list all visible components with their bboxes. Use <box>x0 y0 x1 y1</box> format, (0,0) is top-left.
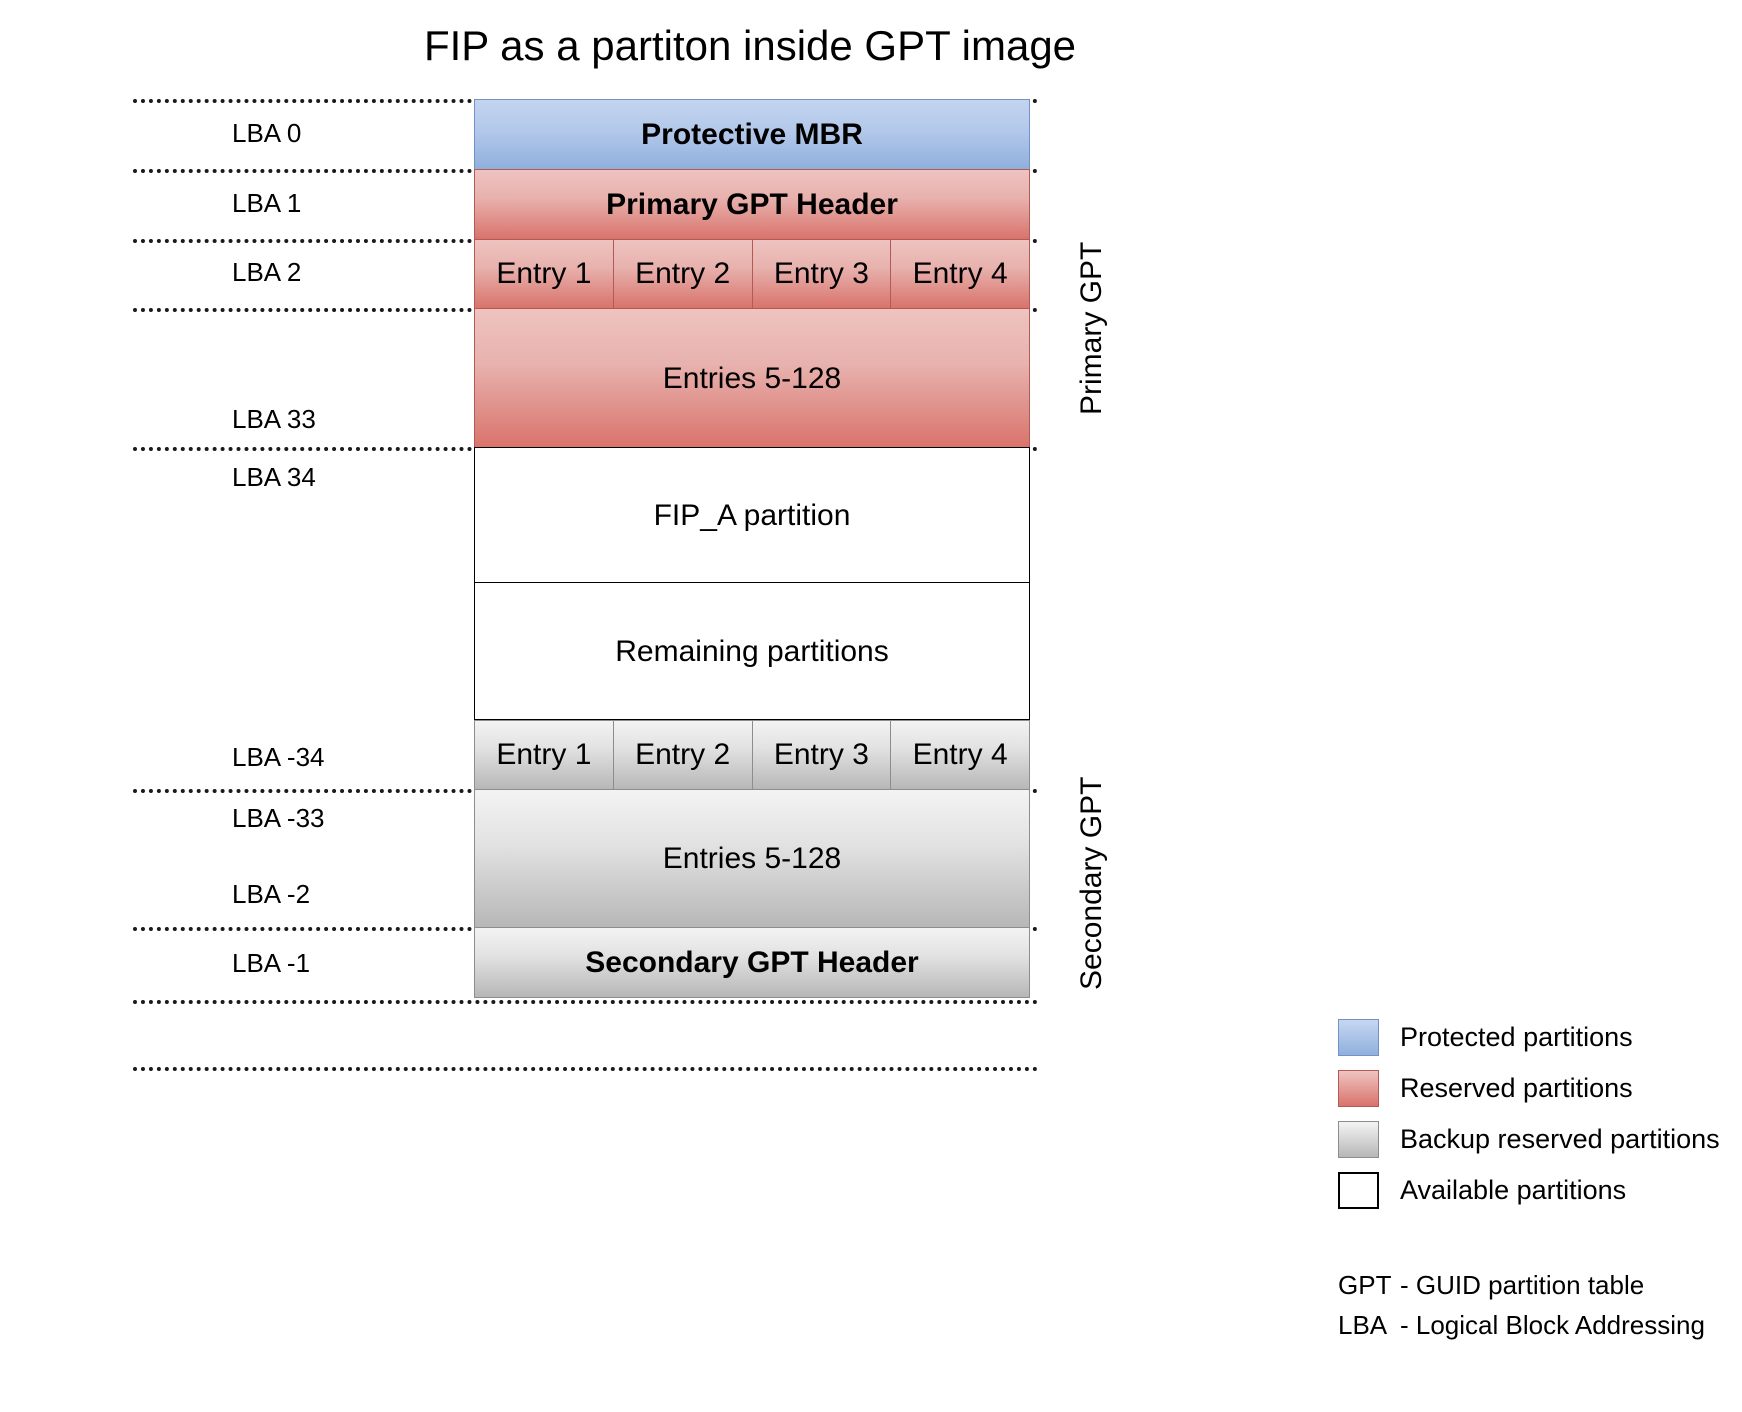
lba-label: LBA 34 <box>232 462 316 493</box>
fip-a-partition: FIP_A partition <box>474 447 1030 583</box>
lba-label: LBA -34 <box>232 742 325 773</box>
lba-guide-line <box>133 1000 1038 1004</box>
secondary-gpt-bracket-label: Secondary GPT <box>1075 777 1109 990</box>
primary-gpt-header: Primary GPT Header <box>474 169 1030 240</box>
legend-label: Reserved partitions <box>1400 1073 1633 1104</box>
legend-label: Available partitions <box>1400 1175 1626 1206</box>
legend-swatch-icon <box>1338 1070 1379 1107</box>
protective-mbr: Protective MBR <box>474 99 1030 170</box>
partition-entry-cell: Entry 3 <box>752 239 892 309</box>
partition-entry-cell: Entry 1 <box>474 720 614 790</box>
lba-label: LBA 1 <box>232 188 301 219</box>
abbreviation-row: LBA- Logical Block Addressing <box>1338 1310 1705 1350</box>
legend-swatch-icon <box>1338 1019 1379 1056</box>
lba-label: LBA -2 <box>232 879 310 910</box>
partition-entry-cell: Entry 1 <box>474 239 614 309</box>
remaining-partitions: Remaining partitions <box>474 582 1030 720</box>
page-title: FIP as a partiton inside GPT image <box>0 22 1500 70</box>
lba-label: LBA 0 <box>232 118 301 149</box>
lba-label: LBA -33 <box>232 803 325 834</box>
partition-entry-cell: Entry 4 <box>890 720 1030 790</box>
lba-label: LBA -1 <box>232 948 310 979</box>
secondary-gpt-header: Secondary GPT Header <box>474 927 1030 998</box>
primary-gpt-bracket-label: Primary GPT <box>1075 242 1109 415</box>
legend-swatch-icon <box>1338 1172 1379 1209</box>
partition-entry-cell: Entry 3 <box>752 720 892 790</box>
primary-entries-5-128: Entries 5-128 <box>474 308 1030 448</box>
lba-label: LBA 2 <box>232 257 301 288</box>
legend-item: Backup reserved partitions <box>1338 1114 1738 1165</box>
partition-entry-cell: Entry 2 <box>613 720 753 790</box>
secondary-entry-row: Entry 1Entry 2Entry 3Entry 4 <box>474 720 1030 790</box>
legend: Protected partitionsReserved partitionsB… <box>1338 1012 1738 1216</box>
legend-item: Available partitions <box>1338 1165 1738 1216</box>
lba-label: LBA 33 <box>232 404 316 435</box>
legend-swatch-icon <box>1338 1121 1379 1158</box>
legend-label: Backup reserved partitions <box>1400 1124 1720 1155</box>
partition-entry-cell: Entry 2 <box>613 239 753 309</box>
abbreviation-value-text: - Logical Block Addressing <box>1400 1310 1705 1341</box>
abbreviation-key-text: LBA <box>1338 1310 1400 1341</box>
legend-label: Protected partitions <box>1400 1022 1633 1053</box>
partition-entry-cell: Entry 4 <box>890 239 1030 309</box>
primary-entry-row: Entry 1Entry 2Entry 3Entry 4 <box>474 239 1030 309</box>
legend-item: Reserved partitions <box>1338 1063 1738 1114</box>
lba-guide-line <box>133 1067 1038 1071</box>
secondary-entries-5-128: Entries 5-128 <box>474 789 1030 928</box>
abbreviation-value-text: - GUID partition table <box>1400 1270 1644 1301</box>
legend-item: Protected partitions <box>1338 1012 1738 1063</box>
abbreviation-key: GPT- GUID partition tableLBA- Logical Bl… <box>1338 1270 1705 1350</box>
abbreviation-key-text: GPT <box>1338 1270 1400 1301</box>
abbreviation-row: GPT- GUID partition table <box>1338 1270 1705 1310</box>
